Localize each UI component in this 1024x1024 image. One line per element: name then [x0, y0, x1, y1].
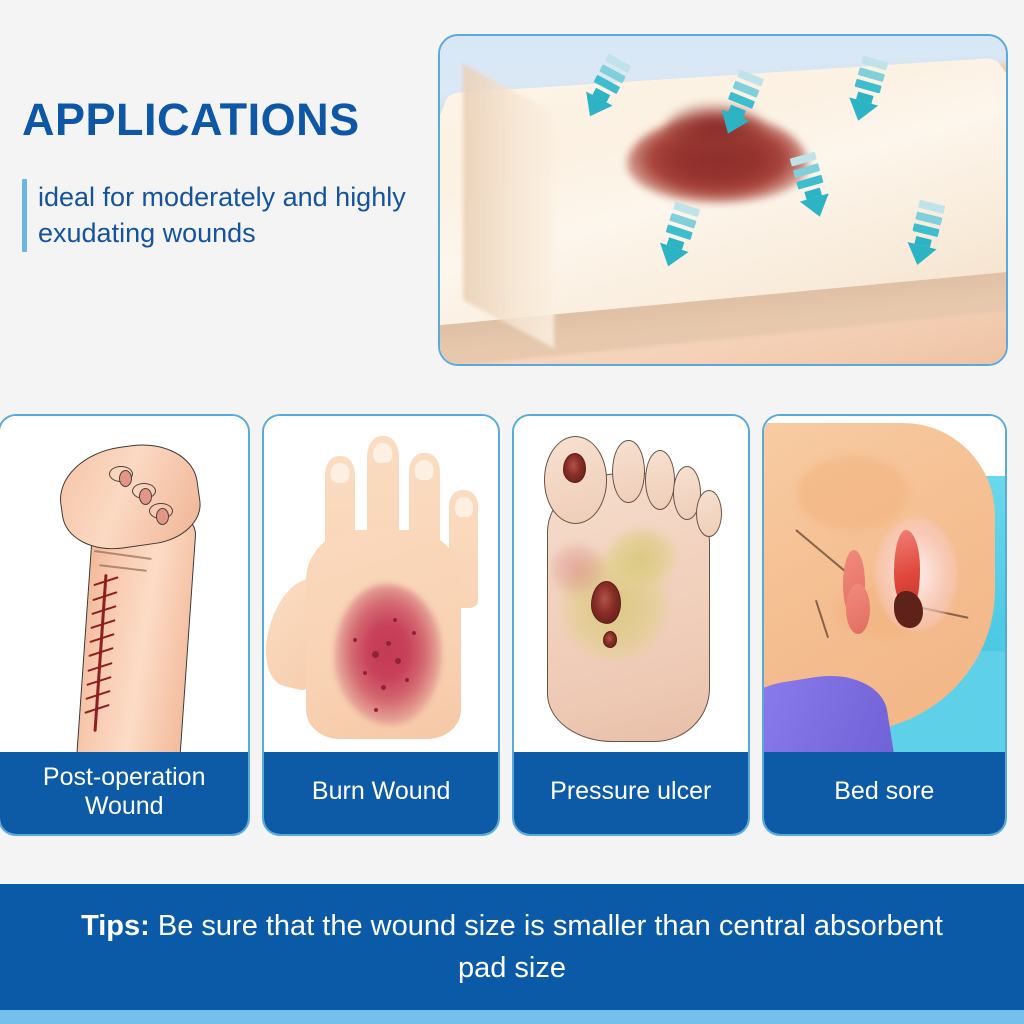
second-toe	[612, 440, 645, 504]
footer-strip	[0, 1010, 1024, 1024]
subtitle-block: ideal for moderately and highly exudatin…	[22, 179, 432, 251]
fifth-toe	[696, 490, 722, 537]
card-label-bed-sore: Bed sore	[764, 752, 1005, 834]
subtitle-accent-bar	[22, 179, 27, 251]
plantar-ulcer	[591, 581, 621, 625]
card-bed-sore[interactable]: Bed sore	[762, 414, 1007, 836]
burn-blister	[393, 618, 397, 622]
hip-shading	[797, 456, 908, 530]
burn-blister	[363, 671, 367, 675]
bed-sore-bump	[846, 584, 870, 634]
card-label-pressure-ulcer: Pressure ulcer	[514, 752, 748, 834]
card-label-burn-wound: Burn Wound	[264, 752, 498, 834]
hand-with-burn-illustration	[264, 416, 498, 752]
hip-bed-sore-illustration	[764, 416, 1005, 752]
card-label-post-operation-wound: Post-operation Wound	[0, 752, 248, 834]
application-cards-row: Post-operation Wound Burn Wound	[0, 414, 1024, 836]
burn-blister	[372, 651, 379, 658]
burn-blister	[381, 685, 386, 690]
subtitle-text: ideal for moderately and highly exudatin…	[38, 179, 432, 251]
tips-label: Tips:	[81, 910, 150, 942]
card-pressure-ulcer[interactable]: Pressure ulcer	[512, 414, 750, 836]
tips-body: Be sure that the wound size is smaller t…	[158, 910, 943, 984]
burn-blister	[412, 631, 416, 635]
burn-blister	[405, 678, 409, 682]
card-post-operation-wound[interactable]: Post-operation Wound	[0, 414, 250, 836]
toe-ulcer	[563, 453, 586, 483]
burn-blister	[386, 641, 391, 646]
burn-wound-area	[334, 584, 441, 725]
header-block: APPLICATIONS ideal for moderately and hi…	[22, 96, 432, 252]
burn-blister	[353, 638, 357, 642]
fingernail	[119, 470, 132, 487]
foot-sole-with-ulcers-illustration	[514, 416, 748, 752]
secondary-ulcer	[603, 631, 617, 648]
pad-left-edge	[463, 64, 554, 348]
page-title: APPLICATIONS	[22, 96, 432, 143]
third-toe	[645, 450, 675, 510]
hero-illustration-panel	[438, 34, 1008, 366]
tips-banner: Tips: Be sure that the wound size is sma…	[0, 884, 1024, 1010]
card-burn-wound[interactable]: Burn Wound	[262, 414, 500, 836]
tips-text: Tips: Be sure that the wound size is sma…	[62, 905, 962, 989]
forearm-with-sutures-illustration	[0, 416, 248, 752]
